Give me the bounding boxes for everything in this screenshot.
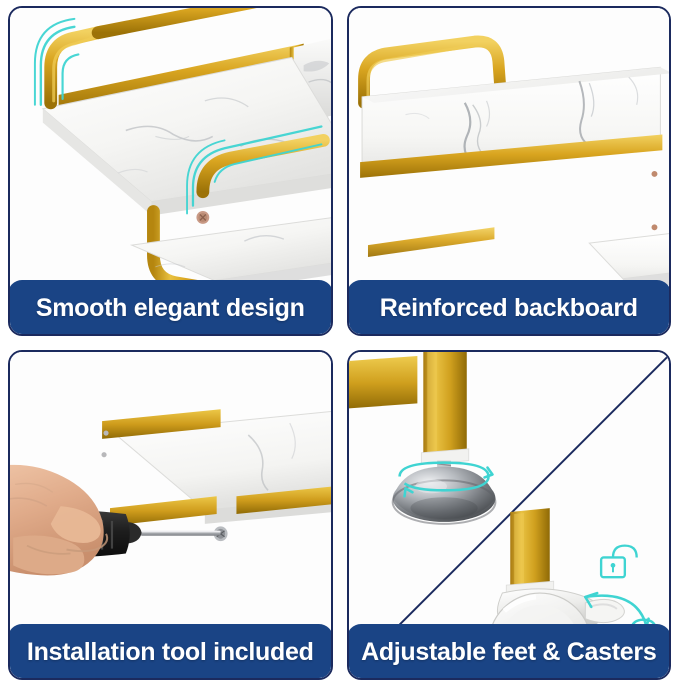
panel-1-caption-bar: Smooth elegant design: [8, 280, 333, 336]
feature-panel-feet-casters: Adjustable feet & Casters: [347, 350, 672, 680]
frame-screw-icon: [196, 211, 209, 224]
panel-4-caption-text: Adjustable feet & Casters: [361, 638, 656, 667]
panel-4-caption-bar: Adjustable feet & Casters: [347, 624, 672, 680]
caster-brake-lever: [585, 599, 624, 622]
panel-1-caption-text: Smooth elegant design: [36, 294, 305, 323]
panel-3-caption-bar: Installation tool included: [8, 624, 333, 680]
panel-2-caption-text: Reinforced backboard: [380, 294, 638, 323]
feature-panel-reinforced-backboard: Reinforced backboard: [347, 6, 672, 336]
panel-2-caption-bar: Reinforced backboard: [347, 280, 672, 336]
panel-3-caption-text: Installation tool included: [27, 638, 314, 667]
feature-panel-smooth-design: Smooth elegant design: [8, 6, 333, 336]
feature-grid: Smooth elegant design: [0, 0, 679, 684]
feature-panel-installation-tool: Installation tool included: [8, 350, 333, 680]
